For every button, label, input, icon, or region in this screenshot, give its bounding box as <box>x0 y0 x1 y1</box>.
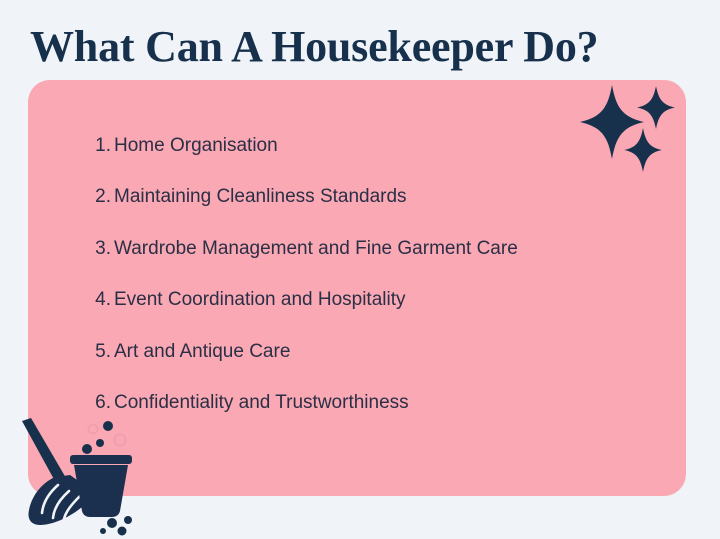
list-item: 5. Art and Antique Care <box>93 339 653 390</box>
task-list: 1. Home Organisation 2. Maintaining Clea… <box>93 133 653 441</box>
list-item-label: Confidentiality and Trustworthiness <box>114 390 409 416</box>
list-item-label: Maintaining Cleanliness Standards <box>114 184 407 210</box>
list-item-number: 2. <box>93 184 111 210</box>
list-item: 4. Event Coordination and Hospitality <box>93 287 653 338</box>
poster: What Can A Housekeeper Do? 1. Home Organ… <box>0 0 720 539</box>
list-item-number: 5. <box>93 339 111 365</box>
list-item-label: Event Coordination and Hospitality <box>114 287 406 313</box>
list-item-label: Home Organisation <box>114 133 278 159</box>
list-item-label: Wardrobe Management and Fine Garment Car… <box>114 236 518 262</box>
list-item: 1. Home Organisation <box>93 133 653 184</box>
page-title: What Can A Housekeeper Do? <box>30 21 696 73</box>
list-item-number: 1. <box>93 133 111 159</box>
list-item-number: 4. <box>93 287 111 313</box>
list-item: 6. Confidentiality and Trustworthiness <box>93 390 653 441</box>
mop-and-bucket-icon <box>8 415 138 537</box>
list-item: 3. Wardrobe Management and Fine Garment … <box>93 236 653 287</box>
list-item-label: Art and Antique Care <box>114 339 290 365</box>
list-item-number: 3. <box>93 236 111 262</box>
list-item-number: 6. <box>93 390 111 416</box>
list-item: 2. Maintaining Cleanliness Standards <box>93 184 653 235</box>
